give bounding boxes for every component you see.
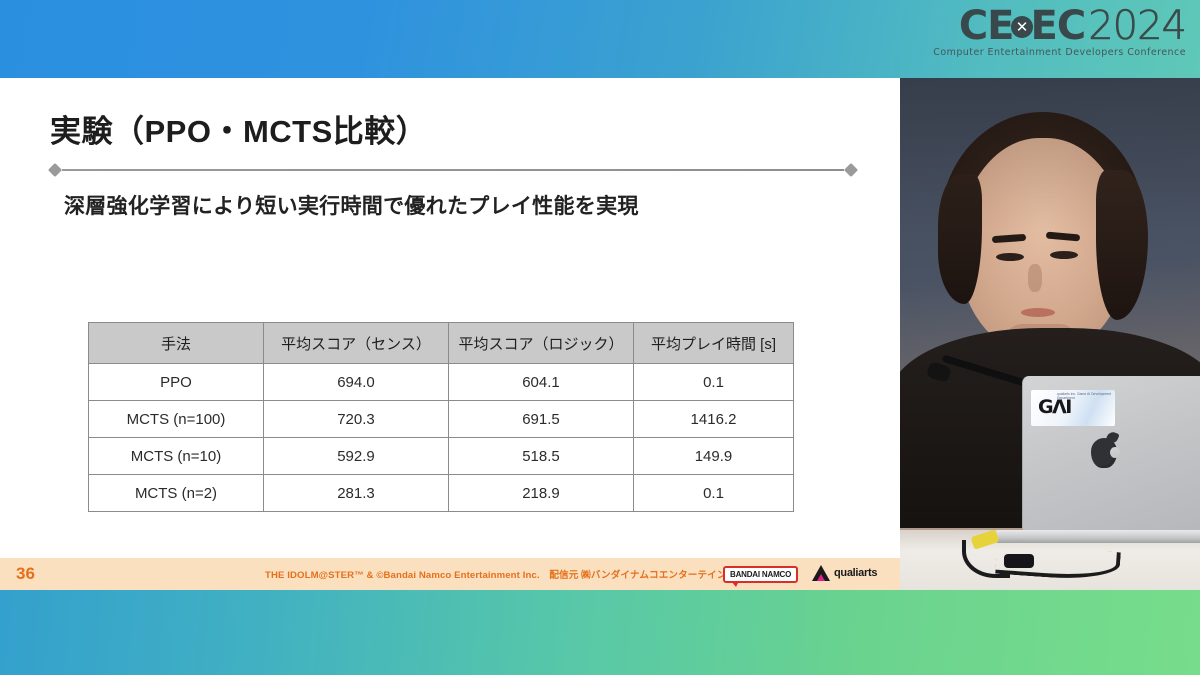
cedec-logo-subtitle: Computer Entertainment Developers Confer…: [933, 48, 1186, 58]
slide-content: 実験（PPO・MCTS比較） 深層強化学習により短い実行時間で優れたプレイ性能を…: [0, 78, 900, 558]
diamond-left-icon: [48, 163, 62, 177]
cedec-wordmark: CE✕EC2024: [933, 6, 1186, 46]
cell-score-sense: 592.9: [264, 438, 449, 475]
slide-subheading: 深層強化学習により短い実行時間で優れたプレイ性能を実現: [64, 190, 639, 220]
cell-method: PPO: [89, 364, 264, 401]
presenter-eye-left: [996, 253, 1024, 261]
title-divider: [48, 164, 858, 176]
table-row: MCTS (n=10) 592.9 518.5 149.9: [89, 438, 794, 475]
top-banner: CE✕EC2024 Computer Entertainment Develop…: [0, 0, 1200, 78]
qualiarts-triangle-icon: [812, 565, 830, 581]
copyright-text: THE IDOLM@STER™ & ©Bandai Namco Entertai…: [265, 567, 755, 581]
cell-method: MCTS (n=10): [89, 438, 264, 475]
qualiarts-logo: qualiarts: [812, 565, 877, 581]
cell-play-time: 0.1: [634, 364, 794, 401]
apple-logo-icon: [1091, 438, 1117, 468]
table-header-play-time: 平均プレイ時間 [s]: [634, 323, 794, 364]
table-body: PPO 694.0 604.1 0.1 MCTS (n=100) 720.3 6…: [89, 364, 794, 512]
table-row: MCTS (n=100) 720.3 691.5 1416.2: [89, 401, 794, 438]
presentation-screen: CE✕EC2024 Computer Entertainment Develop…: [0, 0, 1200, 675]
presenter-video-feed: qualiarts inc. Game AI Development Depar…: [900, 78, 1200, 590]
results-table-wrapper: 手法 平均スコア（センス） 平均スコア（ロジック） 平均プレイ時間 [s] PP…: [88, 322, 794, 512]
presenter-mouth: [1021, 308, 1055, 317]
presenter-eye-right: [1050, 251, 1078, 259]
qualiarts-label: qualiarts: [834, 567, 877, 579]
cell-score-logic: 691.5: [449, 401, 634, 438]
table-head: 手法 平均スコア（センス） 平均スコア（ロジック） 平均プレイ時間 [s]: [89, 323, 794, 364]
cedec-x-icon: ✕: [1011, 16, 1033, 38]
laptop-base: [996, 530, 1200, 543]
laptop-lid: qualiarts inc. Game AI Development Depar…: [1022, 376, 1200, 536]
results-table: 手法 平均スコア（センス） 平均スコア（ロジック） 平均プレイ時間 [s] PP…: [88, 322, 794, 512]
table-header-row: 手法 平均スコア（センス） 平均スコア（ロジック） 平均プレイ時間 [s]: [89, 323, 794, 364]
cell-score-logic: 218.9: [449, 475, 634, 512]
page-number: 36: [16, 564, 35, 584]
cell-method: MCTS (n=100): [89, 401, 264, 438]
cell-play-time: 1416.2: [634, 401, 794, 438]
cell-play-time: 149.9: [634, 438, 794, 475]
presenter-hair-left: [938, 174, 982, 304]
diamond-right-icon: [844, 163, 858, 177]
table-row: PPO 694.0 604.1 0.1: [89, 364, 794, 401]
cell-play-time: 0.1: [634, 475, 794, 512]
cell-score-logic: 518.5: [449, 438, 634, 475]
cell-score-sense: 694.0: [264, 364, 449, 401]
cell-score-logic: 604.1: [449, 364, 634, 401]
cell-method: MCTS (n=2): [89, 475, 264, 512]
cedec-logo: CE✕EC2024 Computer Entertainment Develop…: [933, 6, 1186, 58]
laptop-sticker-text: GΛI: [1038, 398, 1071, 417]
page-title: 実験（PPO・MCTS比較）: [50, 106, 427, 151]
cedec-logo-year: 2024: [1088, 6, 1186, 46]
cedec-logo-ce: CE: [959, 6, 1014, 46]
table-header-method: 手法: [89, 323, 264, 364]
slide-footer: 36 THE IDOLM@STER™ & ©Bandai Namco Enter…: [0, 558, 900, 590]
divider-line: [62, 169, 844, 171]
table-row: MCTS (n=2) 281.3 218.9 0.1: [89, 475, 794, 512]
table-header-score-sense: 平均スコア（センス）: [264, 323, 449, 364]
table-header-score-logic: 平均スコア（ロジック）: [449, 323, 634, 364]
cedec-logo-ec: EC: [1031, 6, 1086, 46]
cable-plug: [1004, 554, 1034, 568]
cell-score-sense: 281.3: [264, 475, 449, 512]
presenter-nose: [1028, 264, 1042, 292]
bandai-namco-logo: BANDAI NAMCO: [723, 566, 798, 583]
cell-score-sense: 720.3: [264, 401, 449, 438]
bottom-gradient-band: [0, 590, 1200, 675]
laptop-sticker: qualiarts inc. Game AI Development Depar…: [1031, 390, 1115, 426]
